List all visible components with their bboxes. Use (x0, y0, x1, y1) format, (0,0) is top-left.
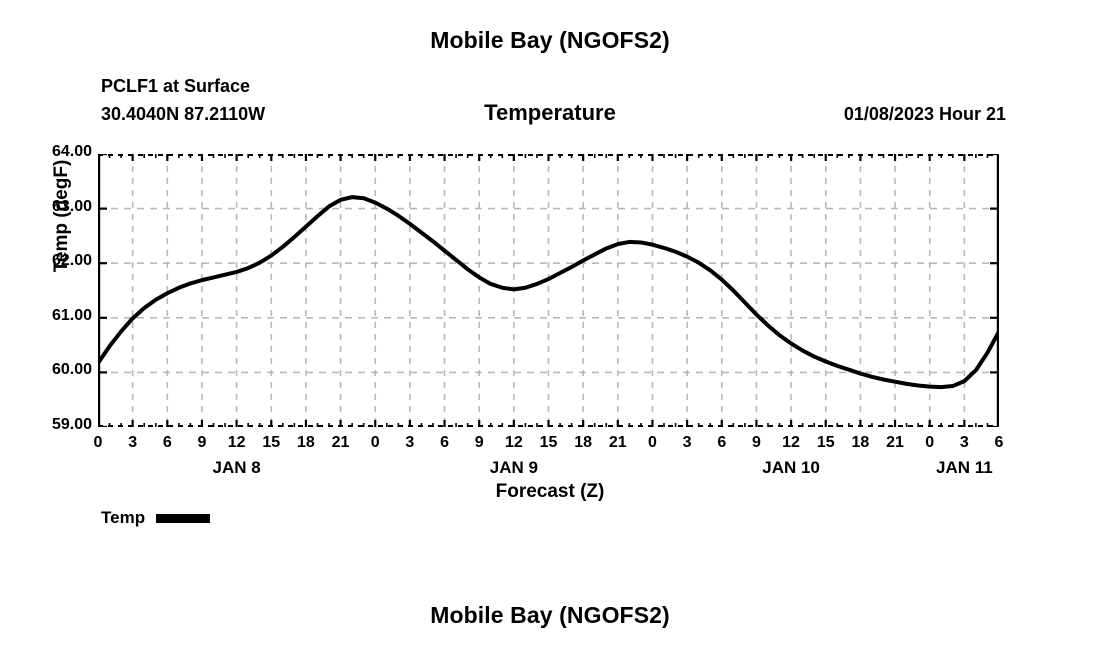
x-axis-day-label: JAN 8 (157, 458, 317, 478)
model-run-time: 01/08/2023 Hour 21 (844, 104, 1006, 125)
legend-swatch-temp (156, 514, 210, 523)
chart-legend: Temp (101, 508, 210, 528)
y-tick-label: 61.00 (0, 307, 92, 325)
station-label: PCLF1 at Surface (101, 76, 250, 97)
y-tick-label: 59.00 (0, 416, 92, 434)
plot-area (98, 154, 999, 427)
x-axis-day-label: JAN 11 (884, 458, 1044, 478)
x-axis-day-label: JAN 10 (711, 458, 871, 478)
x-axis-day-label: JAN 9 (434, 458, 594, 478)
page-title-top: Mobile Bay (NGOFS2) (0, 27, 1100, 54)
chart-page: Mobile Bay (NGOFS2) PCLF1 at Surface 30.… (0, 0, 1100, 650)
y-tick-label: 62.00 (0, 252, 92, 270)
x-axis-title: Forecast (Z) (0, 481, 1100, 503)
grid-lines (98, 154, 999, 427)
x-tick-label: 6 (979, 434, 1019, 452)
temperature-line-chart (98, 154, 999, 427)
page-title-bottom: Mobile Bay (NGOFS2) (0, 602, 1100, 629)
y-tick-label: 60.00 (0, 361, 92, 379)
y-tick-label: 63.00 (0, 198, 92, 216)
legend-label-temp: Temp (101, 508, 145, 528)
y-tick-label: 64.00 (0, 143, 92, 161)
